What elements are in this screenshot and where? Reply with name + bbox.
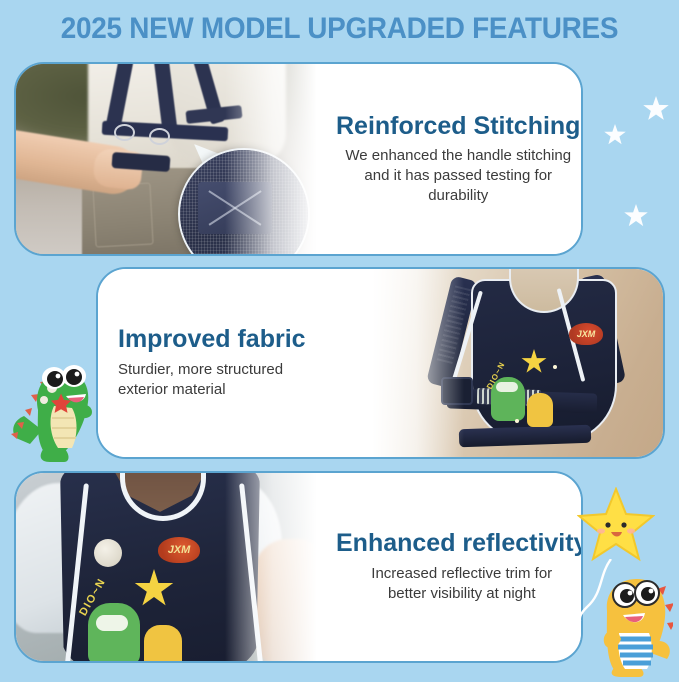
feature-description-line: better visibility at night [371, 584, 552, 604]
star-balloon-svg [577, 487, 655, 563]
stitching-closeup-inset [178, 148, 310, 254]
feature-panel-enhanced-reflectivity: JXM DIO~N Enhanced reflectivity Increase… [14, 471, 583, 663]
feature-photo-reinforced-stitching [16, 64, 316, 254]
star-graphic [134, 569, 174, 609]
feature-description-line: Sturdier, more structured [118, 360, 283, 380]
decorative-star-icon [604, 124, 626, 146]
feature-photo-improved-fabric: JXM DIO~N [373, 269, 663, 457]
feature-title: Reinforced Stitching [336, 113, 580, 141]
feature-title: Enhanced reflectivity [336, 530, 583, 558]
yellow-dinosaur-graphic [527, 393, 553, 427]
feature-panel-reinforced-stitching: Reinforced Stitching We enhanced the han… [14, 62, 583, 256]
sparkle-dot [553, 365, 557, 369]
feature-description: Sturdier, more structured exterior mater… [118, 360, 283, 400]
vest-dinosaur-artwork: DIO~N [82, 569, 212, 661]
brand-logo-text: JXM [158, 537, 200, 563]
feature-title: Improved fabric [118, 326, 306, 354]
yellow-star-balloon-icon [577, 487, 655, 563]
feature-description: Increased reflective trim for better vis… [371, 564, 552, 604]
brand-logo-text: JXM [569, 323, 603, 345]
harness-d-ring-right [149, 128, 170, 145]
feature-description-line: We enhanced the handle stitching [336, 146, 580, 166]
brand-logo-badge: JXM [569, 323, 603, 345]
harness-vest-product: JXM DIO~N [413, 273, 621, 453]
feature-description-line: Increased reflective trim for [371, 564, 552, 584]
yellow-dinosaur-svg [581, 567, 673, 677]
feature-description: We enhanced the handle stitching and it … [336, 146, 580, 205]
sparkle-dot [515, 419, 519, 423]
feature-photo-enhanced-reflectivity: JXM DIO~N [16, 473, 316, 661]
page-title: 2025 NEW MODEL UPGRADED FEATURES [24, 12, 655, 46]
brand-logo-badge: JXM [158, 537, 200, 563]
harness-d-ring-left [114, 124, 135, 141]
green-dinosaur-svg [8, 352, 100, 464]
feature-description-line: and it has passed testing for durability [336, 166, 580, 206]
decorative-star-icon [643, 96, 669, 122]
yellow-dinosaur-graphic [144, 625, 182, 661]
yellow-dinosaur-mascot [581, 567, 673, 677]
decorative-star-icon [624, 204, 648, 228]
feature-text-reinforced-stitching: Reinforced Stitching We enhanced the han… [316, 64, 583, 254]
cross-stitch-pattern [204, 186, 266, 230]
vest-round-badge [94, 539, 122, 567]
feature-panel-improved-fabric: Improved fabric Sturdier, more structure… [96, 267, 665, 459]
feature-description-line: exterior material [118, 380, 283, 400]
green-dinosaur-mascot [8, 352, 100, 464]
feature-text-improved-fabric: Improved fabric Sturdier, more structure… [98, 269, 373, 457]
vest-buckle [441, 377, 473, 405]
child-arm-right [254, 539, 316, 661]
vest-dinosaur-artwork: DIO~N [487, 351, 561, 431]
green-dinosaur-graphic [88, 603, 140, 661]
feature-text-enhanced-reflectivity: Enhanced reflectivity Increased reflecti… [316, 473, 583, 661]
star-graphic [521, 349, 547, 375]
